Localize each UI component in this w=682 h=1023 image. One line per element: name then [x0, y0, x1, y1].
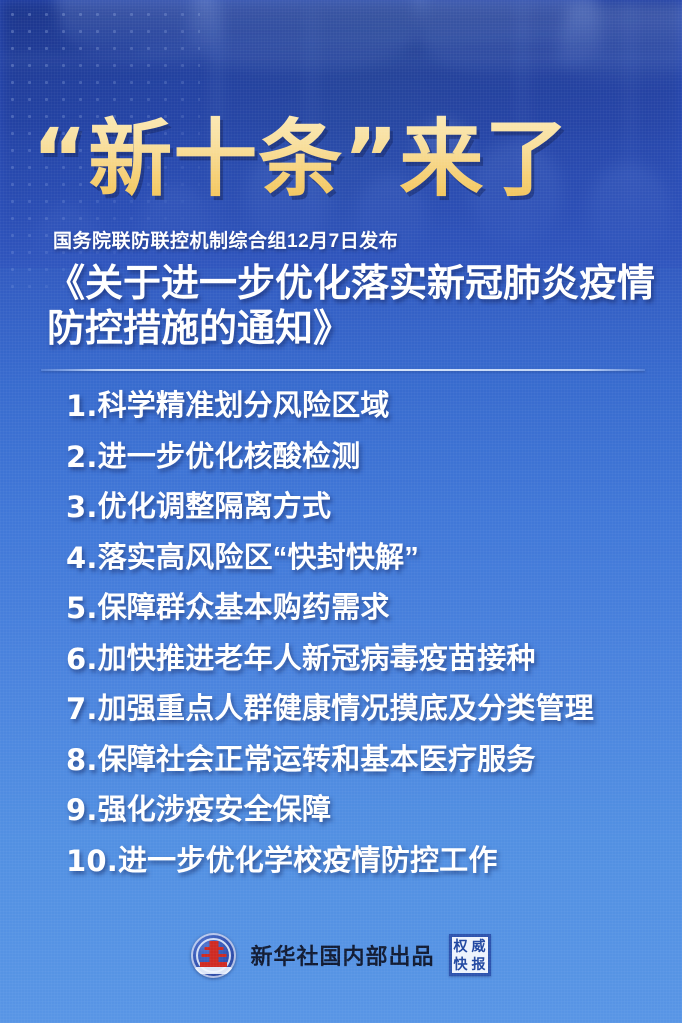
- stamp-char-4: 报: [472, 957, 486, 971]
- list-item-number: 9.: [66, 793, 98, 827]
- list-item: 5.保障群众基本购药需求: [66, 583, 646, 634]
- list-item: 9.强化涉疫安全保障: [66, 785, 646, 836]
- stamp-char-2: 威: [472, 939, 486, 953]
- list-item-number: 10.: [66, 844, 118, 878]
- list-item-label: 保障社会正常运转和基本医疗服务: [98, 743, 536, 777]
- section-divider: [41, 369, 645, 371]
- list-item-number: 1.: [66, 389, 98, 423]
- list-item-label: 保障群众基本购药需求: [98, 591, 390, 625]
- list-item-number: 3.: [66, 490, 98, 524]
- document-title: 《关于进一步优化落实新冠肺炎疫情 防控措施的通知》: [47, 262, 647, 352]
- list-item-number: 4.: [66, 541, 98, 575]
- issuing-authority-line: 国务院联防联控机制综合组12月7日发布: [53, 229, 398, 255]
- list-item: 7.加强重点人群健康情况摸底及分类管理: [66, 684, 646, 735]
- poster-canvas: “新十条”来了 国务院联防联控机制综合组12月7日发布 《关于进一步优化落实新冠…: [0, 0, 682, 1023]
- stamp-char-1: 权: [454, 939, 468, 953]
- authoritative-express-stamp-icon: 权 威 快 报: [449, 934, 491, 976]
- list-item: 2.进一步优化核酸检测: [66, 432, 646, 483]
- emblem-strip: [195, 967, 232, 974]
- list-item-number: 5.: [66, 591, 98, 625]
- document-title-line-2: 防控措施的通知》: [47, 307, 647, 352]
- list-item-label: 加强重点人群健康情况摸底及分类管理: [98, 692, 594, 726]
- list-item-label: 加快推进老年人新冠病毒疫苗接种: [98, 642, 536, 676]
- list-item-label: 优化调整隔离方式: [98, 490, 332, 524]
- list-item: 3.优化调整隔离方式: [66, 482, 646, 533]
- list-item: 4.落实高风险区“快封快解”: [66, 533, 646, 584]
- poster-content: “新十条”来了 国务院联防联控机制综合组12月7日发布 《关于进一步优化落实新冠…: [0, 0, 682, 1023]
- list-item-label: 进一步优化学校疫情防控工作: [118, 844, 498, 878]
- footer-credit: 新华社国内部出品: [250, 939, 434, 971]
- document-title-line-1: 《关于进一步优化落实新冠肺炎疫情: [47, 262, 647, 307]
- list-item-label: 强化涉疫安全保障: [98, 793, 332, 827]
- list-item: 8.保障社会正常运转和基本医疗服务: [66, 735, 646, 786]
- list-item: 6.加快推进老年人新冠病毒疫苗接种: [66, 634, 646, 685]
- measures-list: 1.科学精准划分风险区域 2.进一步优化核酸检测 3.优化调整隔离方式 4.落实…: [66, 381, 646, 886]
- emblem-base: [200, 962, 227, 967]
- list-item-number: 7.: [66, 692, 98, 726]
- footer: 新华社国内部出品 权 威 快 报: [0, 924, 682, 986]
- list-item-label: 科学精准划分风险区域: [98, 389, 390, 423]
- list-item-number: 8.: [66, 743, 98, 777]
- list-item-label: 落实高风险区“快封快解”: [98, 541, 419, 575]
- list-item-label: 进一步优化核酸检测: [98, 440, 361, 474]
- page-title: “新十条”来了: [32, 112, 652, 206]
- list-item: 1.科学精准划分风险区域: [66, 381, 646, 432]
- stamp-char-3: 快: [454, 957, 468, 971]
- list-item-number: 6.: [66, 642, 98, 676]
- xinhua-emblem-icon: [191, 933, 236, 978]
- list-item-number: 2.: [66, 440, 98, 474]
- list-item: 10.进一步优化学校疫情防控工作: [66, 836, 646, 887]
